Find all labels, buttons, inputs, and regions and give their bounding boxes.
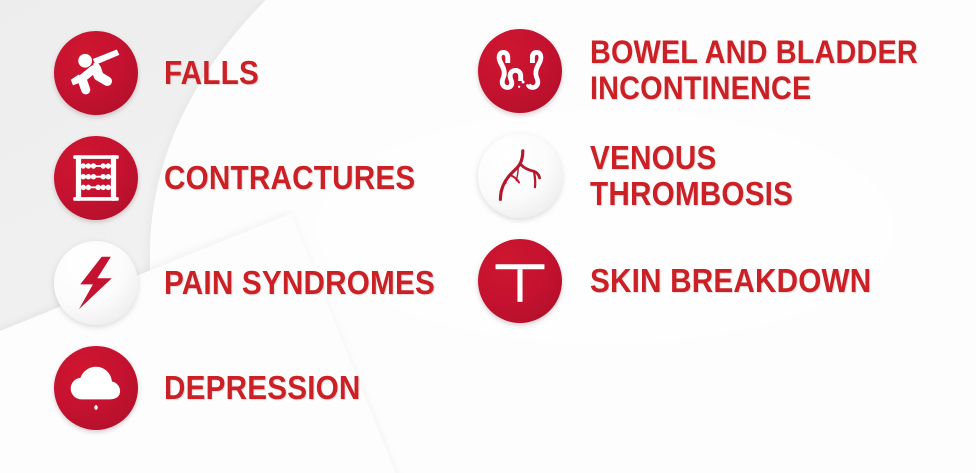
lightning-bolt-icon xyxy=(54,241,138,325)
list-item-label: BOWEL AND BLADDER INCONTINENCE xyxy=(590,35,918,107)
bandage-t-icon xyxy=(478,239,562,323)
list-item-label: CONTRACTURES xyxy=(164,160,415,195)
right-column: BOWEL AND BLADDER INCONTINENCE VENOUS TH… xyxy=(478,18,958,333)
blood-vessel-icon xyxy=(478,134,562,218)
list-item-pain-syndromes[interactable]: PAIN SYNDROMES xyxy=(54,230,474,335)
list-item-skin-breakdown[interactable]: SKIN BREAKDOWN xyxy=(478,228,958,333)
intestine-icon xyxy=(478,29,562,113)
list-item-falls[interactable]: FALLS xyxy=(54,20,474,125)
list-item-label: VENOUS THROMBOSIS xyxy=(590,140,921,211)
list-item-depression[interactable]: DEPRESSION xyxy=(54,335,474,440)
left-column: FALLS xyxy=(54,20,474,440)
list-item-label: FALLS xyxy=(164,55,259,90)
list-item-contractures[interactable]: CONTRACTURES xyxy=(54,125,474,230)
list-item-label: PAIN SYNDROMES xyxy=(164,265,435,300)
list-item-label: SKIN BREAKDOWN xyxy=(590,263,871,298)
falling-person-icon xyxy=(54,31,138,115)
abacus-icon xyxy=(54,136,138,220)
rain-cloud-icon xyxy=(54,346,138,430)
list-item-label: DEPRESSION xyxy=(164,370,361,405)
slide-canvas: FALLS xyxy=(0,0,976,473)
list-item-bowel-and-bladder-incontinence[interactable]: BOWEL AND BLADDER INCONTINENCE xyxy=(478,18,958,123)
list-item-venous-thrombosis[interactable]: VENOUS THROMBOSIS xyxy=(478,123,958,228)
